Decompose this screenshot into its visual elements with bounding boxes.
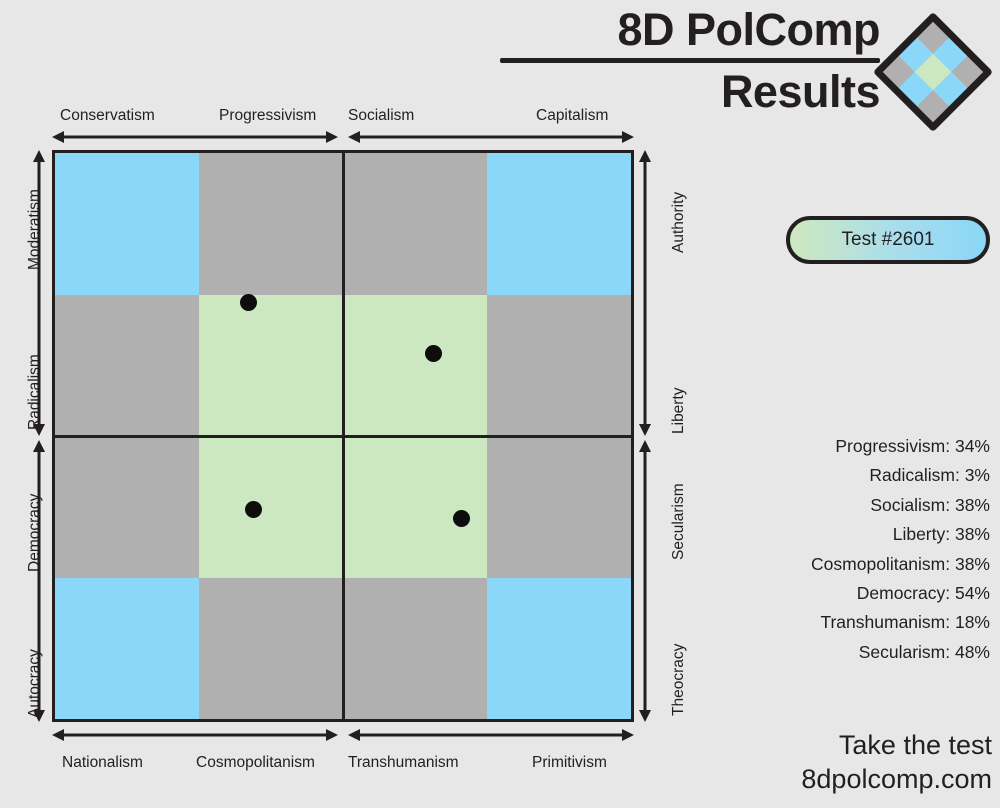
grid-cell bbox=[199, 578, 343, 720]
grid-cell bbox=[199, 153, 343, 295]
grid-cell bbox=[199, 295, 343, 437]
top-left-axis-arrow bbox=[52, 130, 338, 144]
grid-cell bbox=[343, 578, 487, 720]
grid-cell bbox=[343, 436, 487, 578]
axis-label-conservatism: Conservatism bbox=[60, 107, 155, 125]
diamond-logo-icon bbox=[874, 13, 992, 131]
plot-area[interactable] bbox=[52, 150, 634, 722]
grid-cell bbox=[487, 578, 631, 720]
axis-label-autocracy: Autocracy bbox=[26, 649, 44, 718]
axis-label-nationalism: Nationalism bbox=[62, 754, 143, 772]
axis-label-cosmopolitanism: Cosmopolitanism bbox=[196, 754, 315, 772]
axis-label-moderatism: Moderatism bbox=[26, 189, 44, 270]
right-top-axis-arrow bbox=[638, 150, 652, 436]
axis-label-primitivism: Primitivism bbox=[532, 754, 607, 772]
axis-label-democracy: Democracy bbox=[26, 494, 44, 572]
grid-cell bbox=[343, 295, 487, 437]
axis-label-theocracy: Theocracy bbox=[670, 644, 688, 716]
call-to-action: Take the test 8dpolcomp.com bbox=[801, 728, 992, 796]
horizontal-center-divider bbox=[55, 435, 631, 438]
polcomp-chart: Conservatism Progressivism Socialism Cap… bbox=[0, 0, 700, 808]
grid-cell bbox=[199, 436, 343, 578]
grid-cell bbox=[55, 436, 199, 578]
bottom-right-axis-arrow bbox=[348, 728, 634, 742]
axis-label-progressivism: Progressivism bbox=[219, 107, 316, 125]
polcomp-results-page: 8D PolComp Results Test #2601 Progress bbox=[0, 0, 1000, 808]
result-item: Democracy: 54% bbox=[690, 579, 990, 608]
data-point-top-left[interactable] bbox=[240, 294, 257, 311]
grid-cell bbox=[343, 153, 487, 295]
grid-cell bbox=[487, 436, 631, 578]
result-item: Cosmopolitanism: 38% bbox=[690, 550, 990, 579]
data-point-top-right[interactable] bbox=[425, 345, 442, 362]
result-item: Secularism: 48% bbox=[690, 638, 990, 667]
data-point-bottom-left[interactable] bbox=[245, 501, 262, 518]
result-item: Socialism: 38% bbox=[690, 491, 990, 520]
axis-label-radicalism: Radicalism bbox=[26, 354, 44, 430]
grid-cell bbox=[487, 153, 631, 295]
result-item: Liberty: 38% bbox=[690, 520, 990, 549]
axis-label-authority: Authority bbox=[670, 192, 688, 253]
axis-label-transhumanism: Transhumanism bbox=[348, 754, 459, 772]
top-right-axis-arrow bbox=[348, 130, 634, 144]
bottom-left-axis-arrow bbox=[52, 728, 338, 742]
results-list: Progressivism: 34% Radicalism: 3% Social… bbox=[690, 432, 990, 667]
grid-cell bbox=[55, 153, 199, 295]
grid-cell bbox=[487, 295, 631, 437]
result-item: Radicalism: 3% bbox=[690, 461, 990, 490]
axis-label-socialism: Socialism bbox=[348, 107, 414, 125]
right-bottom-axis-arrow bbox=[638, 440, 652, 722]
cta-website-link[interactable]: 8dpolcomp.com bbox=[801, 762, 992, 796]
grid-cell bbox=[55, 295, 199, 437]
axis-label-capitalism: Capitalism bbox=[536, 107, 608, 125]
test-id-badge[interactable]: Test #2601 bbox=[786, 216, 990, 264]
grid-cell bbox=[55, 578, 199, 720]
result-item: Progressivism: 34% bbox=[690, 432, 990, 461]
cta-headline: Take the test bbox=[801, 728, 992, 762]
data-point-bottom-right[interactable] bbox=[453, 510, 470, 527]
axis-label-liberty: Liberty bbox=[670, 387, 688, 434]
axis-label-secularism: Secularism bbox=[670, 483, 688, 560]
result-item: Transhumanism: 18% bbox=[690, 608, 990, 637]
